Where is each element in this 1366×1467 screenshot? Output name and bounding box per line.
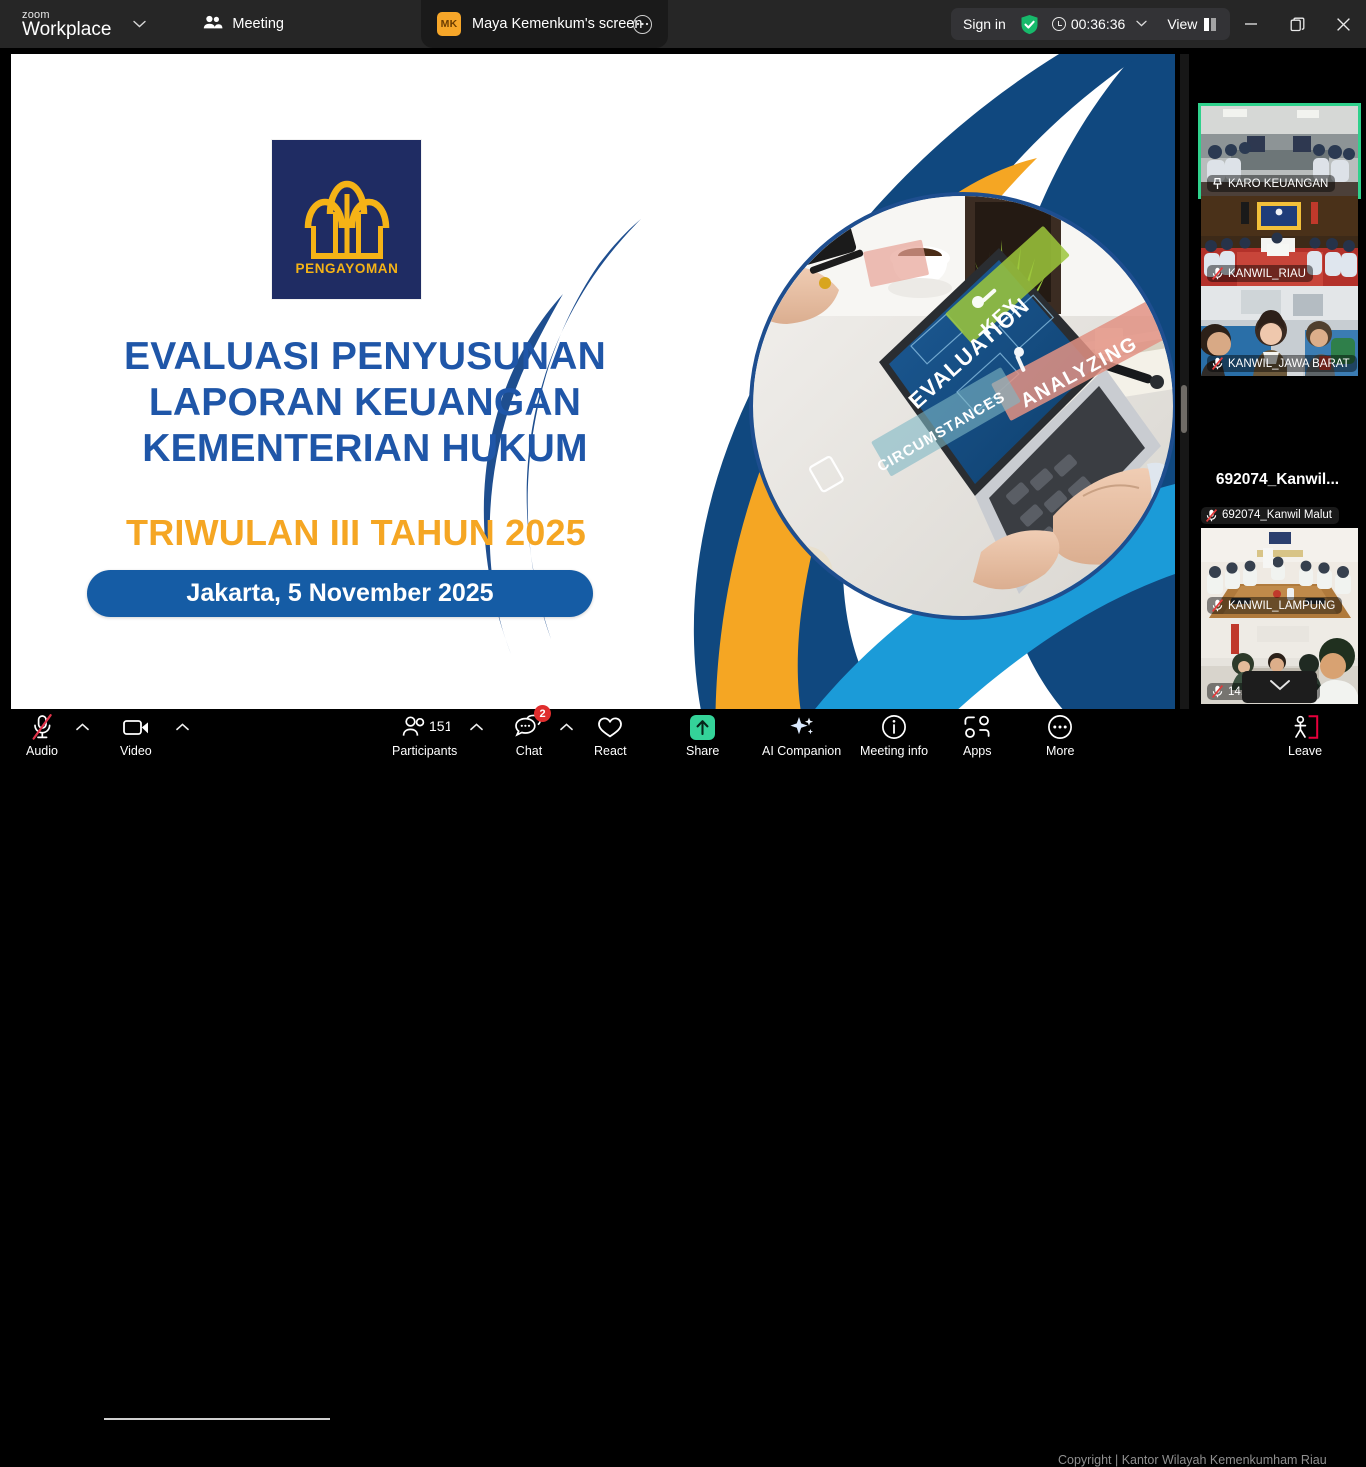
participants-group-icon: [203, 15, 223, 33]
participant-name: KANWIL_RIAU: [1228, 268, 1306, 280]
mic-muted-icon: [1212, 599, 1223, 612]
video-options-caret[interactable]: [176, 713, 189, 765]
share-button[interactable]: Share: [686, 713, 719, 765]
slide-location-date-pill: Jakarta, 5 November 2025: [87, 570, 593, 617]
more-label: More: [1046, 744, 1074, 758]
participants-icon: 151: [400, 713, 450, 741]
participant-name-chip: KARO KEUANGAN: [1207, 175, 1335, 192]
pin-icon: [1212, 177, 1223, 190]
participants-button[interactable]: 151 Participants: [392, 713, 457, 765]
stage-scrollbar[interactable]: [1180, 54, 1189, 709]
chat-button[interactable]: 2 Chat: [514, 713, 544, 765]
pengayoman-banyan-tree-logo: PENGAYOMAN: [272, 140, 421, 299]
minimize-icon[interactable]: [1228, 0, 1274, 48]
video-label: Video: [120, 744, 152, 758]
more-button[interactable]: More: [1046, 713, 1074, 765]
participants-options-caret[interactable]: [470, 713, 483, 765]
meeting-toolbar: Audio Video 151 Participa: [0, 709, 1366, 768]
participant-name: KANWIL_JAWA BARAT: [1228, 358, 1350, 370]
mic-muted-icon: [1212, 357, 1223, 370]
slide-copyright-overlay: Copyright | Kantor Wilayah Kemenkumham R…: [1058, 1453, 1327, 1467]
zoom-workplace-logo[interactable]: zoom Workplace: [22, 10, 111, 39]
slide-subtitle: TRIWULAN III TAHUN 2025: [61, 512, 651, 554]
info-circle-icon: [881, 713, 907, 741]
chevron-down-icon: [1269, 678, 1291, 696]
sign-in-button[interactable]: Sign in: [963, 16, 1020, 32]
participant-name-chip: 692074_Kanwil Malut: [1201, 507, 1339, 524]
participant-name-chip: KANWIL_JAWA BARAT: [1207, 355, 1357, 372]
active-speaker-title: 692074_Kanwil...: [1189, 471, 1366, 489]
chevron-up-icon: [560, 713, 573, 741]
camera-icon: [123, 713, 149, 741]
window-controls: [1228, 0, 1366, 48]
leave-door-icon: [1290, 713, 1320, 741]
laptop-evaluation-photo: KEY ANALYZING EVALUATION CIRCUMSTANCES: [749, 192, 1175, 620]
list-item[interactable]: KANWIL_RIAU: [1201, 196, 1358, 286]
view-button[interactable]: View: [1167, 16, 1218, 32]
participant-name-chip: KANWIL_LAMPUNG: [1207, 597, 1342, 614]
participant-name: KANWIL_LAMPUNG: [1228, 600, 1335, 612]
share-label: Share: [686, 744, 719, 758]
apps-label: Apps: [963, 744, 992, 758]
list-item[interactable]: KARO KEUANGAN: [1201, 106, 1358, 196]
tab-shared-screen-label: Maya Kemenkum's screen: [472, 16, 642, 32]
mic-muted-icon: [1212, 267, 1223, 280]
chevron-up-icon: [76, 713, 89, 741]
chat-label: Chat: [516, 744, 542, 758]
ellipsis-circle-icon: [1047, 713, 1073, 741]
workplace-wordmark: Workplace: [22, 20, 111, 39]
title-bar: zoom Workplace Meeting MK Maya Kemenkum'…: [0, 0, 1366, 48]
chevron-up-icon: [176, 713, 189, 741]
audio-button[interactable]: Audio: [26, 713, 58, 765]
participant-filmstrip[interactable]: KARO KEUANGAN: [1189, 54, 1366, 709]
list-item[interactable]: 692074_Kanwil Malut: [1201, 505, 1358, 525]
participants-label: Participants: [392, 744, 457, 758]
shield-check-icon[interactable]: [1020, 14, 1039, 35]
ai-companion-label: AI Companion: [762, 744, 841, 758]
slide-title: EVALUASI PENYUSUNAN LAPORAN KEUANGAN KEM…: [75, 334, 655, 472]
svg-text:151: 151: [429, 718, 450, 734]
meeting-info-button[interactable]: Meeting info: [860, 713, 928, 765]
meeting-timer-value: 00:36:36: [1071, 16, 1126, 32]
list-item[interactable]: KANWIL_LAMPUNG: [1201, 528, 1358, 618]
audio-label: Audio: [26, 744, 58, 758]
chevron-down-icon[interactable]: [129, 14, 149, 34]
video-button[interactable]: Video: [120, 713, 152, 765]
list-item[interactable]: KANWIL_JAWA BARAT: [1201, 286, 1358, 376]
leave-label: Leave: [1288, 744, 1322, 758]
microphone-muted-icon: [32, 713, 52, 741]
session-status-pill: Sign in 00:36:36 View: [951, 8, 1230, 40]
restore-icon[interactable]: [1274, 0, 1320, 48]
apps-icon: [963, 713, 991, 741]
ai-companion-button[interactable]: AI Companion: [762, 713, 841, 765]
sparkle-icon: [788, 713, 816, 741]
chat-options-caret[interactable]: [560, 713, 573, 765]
participant-name-chip: KANWIL_RIAU: [1207, 265, 1313, 282]
react-button[interactable]: React: [594, 713, 627, 765]
scrollbar-thumb[interactable]: [1181, 385, 1187, 433]
mic-muted-icon: [1206, 509, 1217, 522]
shared-screen-stage[interactable]: PENGAYOMAN: [11, 54, 1175, 709]
heart-icon: [597, 713, 623, 741]
chevron-down-icon[interactable]: [1136, 18, 1147, 30]
tab-meeting-label: Meeting: [232, 16, 284, 32]
apps-button[interactable]: Apps: [963, 713, 992, 765]
avatar: MK: [437, 12, 461, 36]
participant-name: 692074_Kanwil Malut: [1222, 509, 1332, 521]
tab-shared-screen[interactable]: MK Maya Kemenkum's screen: [421, 0, 668, 48]
chevron-up-icon: [470, 713, 483, 741]
meeting-timer[interactable]: 00:36:36: [1052, 16, 1148, 32]
view-label: View: [1167, 16, 1197, 32]
leave-button[interactable]: Leave: [1288, 713, 1322, 765]
logo-caption: PENGAYOMAN: [295, 261, 398, 276]
ellipsis-icon[interactable]: [633, 15, 652, 34]
chat-icon: 2: [514, 713, 544, 741]
close-icon[interactable]: [1320, 0, 1366, 48]
layout-grid-icon: [1204, 18, 1218, 31]
audio-options-caret[interactable]: [76, 713, 89, 765]
tab-meeting[interactable]: Meeting: [191, 7, 296, 41]
participant-name: KARO KEUANGAN: [1228, 178, 1328, 190]
share-screen-icon: [690, 713, 715, 741]
presentation-slide: PENGAYOMAN: [11, 54, 1175, 709]
mic-muted-icon: [1212, 685, 1223, 698]
clock-icon: [1052, 17, 1066, 31]
react-label: React: [594, 744, 627, 758]
filmstrip-scroll-down-button[interactable]: [1242, 671, 1317, 703]
meeting-info-label: Meeting info: [860, 744, 928, 758]
chat-unread-badge: 2: [534, 705, 551, 722]
window-edge-divider: [104, 1418, 330, 1420]
